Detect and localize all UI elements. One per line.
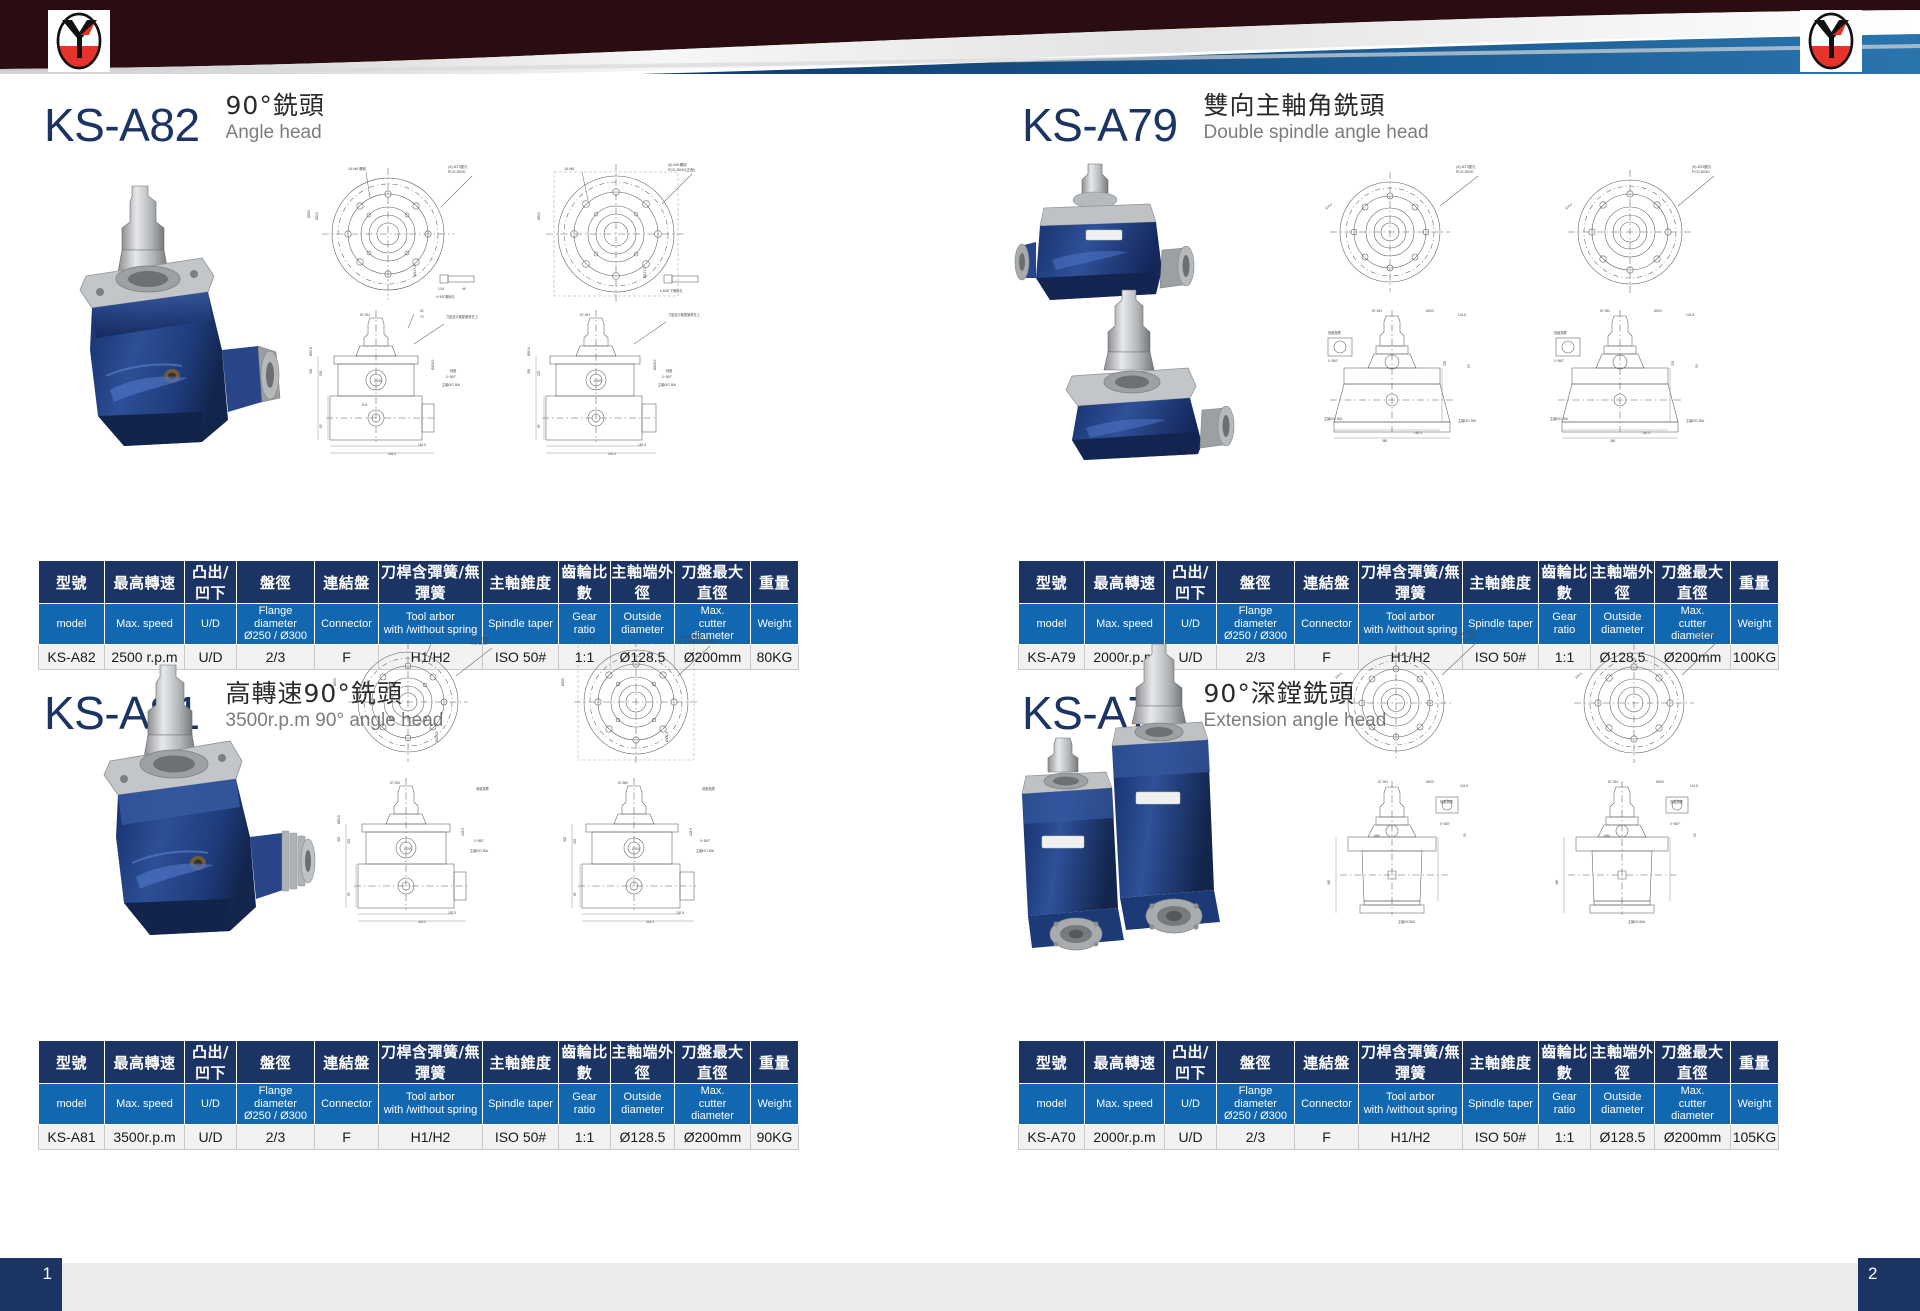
svg-text:480: 480	[1327, 879, 1331, 885]
svg-text:160.5: 160.5	[1642, 431, 1650, 435]
svg-text:刻度指標: 刻度指標	[476, 786, 490, 791]
svg-text:Ø50.8: Ø50.8	[337, 815, 341, 824]
svg-text:Ø300: Ø300	[632, 847, 640, 851]
th-en-0: model	[1019, 1084, 1085, 1125]
th-cn-2: 凸出/凹下	[185, 561, 237, 604]
svg-text:87-394: 87-394	[1600, 309, 1610, 313]
td-9: Ø200mm	[1655, 1124, 1731, 1149]
page-number-right: 2	[1858, 1258, 1920, 1311]
svg-text:0~360°: 0~360°	[1670, 822, 1681, 826]
product-title-cn: 90°銑頭	[226, 92, 325, 121]
spec-table-ks-a70: 型號 最高轉速 凸出/凹下 盤徑 連結盤 刀桿含彈簧/無彈簧 主軸錐度 齒輪比數…	[1018, 1040, 1779, 1150]
svg-text:0~360°: 0~360°	[700, 839, 711, 843]
company-logo-right	[1800, 10, 1862, 72]
svg-text:104.8: 104.8	[1324, 202, 1333, 210]
svg-text:Ø200: Ø200	[1426, 309, 1434, 313]
svg-text:主軸ISO 50#: 主軸ISO 50#	[1324, 416, 1342, 421]
svg-text:0~360°: 0~360°	[1328, 359, 1339, 363]
th-en-1: Max. speed	[1085, 1084, 1165, 1125]
svg-text:Ø300: Ø300	[537, 212, 541, 220]
svg-text:Ø250: Ø250	[333, 678, 337, 686]
header-banner	[0, 0, 1920, 74]
svg-text:16-M6: 16-M6	[564, 167, 574, 171]
svg-text:PCD Ø200: PCD Ø200	[1456, 170, 1473, 174]
svg-text:(6)-Ø19圓孔: (6)-Ø19圓孔	[1692, 164, 1712, 169]
th-en-7: Gearratio	[1539, 1084, 1591, 1125]
catalog-page: KS-A82 90°銑頭 Angle head	[0, 0, 1920, 1311]
svg-text:Ø50.8: Ø50.8	[527, 347, 531, 356]
svg-text:104.8: 104.8	[1458, 313, 1466, 317]
th-en-10: Weight	[1731, 1084, 1779, 1125]
svg-text:104.8: 104.8	[1690, 784, 1698, 788]
svg-text:主軸ISO 50#: 主軸ISO 50#	[470, 848, 488, 853]
th-en-2: U/D	[1165, 1084, 1217, 1125]
company-logo-left	[48, 10, 110, 72]
td-6: ISO 50#	[1463, 1124, 1539, 1149]
product-photo-ks-a82	[62, 180, 292, 460]
table-header-row-cn: 型號 最高轉速 凸出/凹下 盤徑 連結盤 刀桿含彈簧/無彈簧 主軸錐度 齒輪比數…	[1019, 561, 1779, 604]
svg-text:刀盤自行裝配鎖緊在上: 刀盤自行裝配鎖緊在上	[668, 312, 701, 317]
th-cn-10: 重量	[751, 1041, 799, 1084]
svg-text:刻度指標: 刻度指標	[1328, 330, 1342, 335]
th-en-9: Max.cutter diameter	[675, 1084, 751, 1125]
svg-text:Ø50: Ø50	[1604, 834, 1610, 838]
svg-text:Ø128.5: Ø128.5	[431, 359, 435, 370]
td-3: 2/3	[237, 1124, 315, 1149]
product-model: KS-A79	[1022, 102, 1178, 148]
svg-text:主軸ISO 50#: 主軸ISO 50#	[696, 848, 714, 853]
th-cn-4: 連結盤	[1295, 561, 1359, 604]
svg-text:10.8: 10.8	[438, 287, 444, 291]
svg-text:104.8: 104.8	[1574, 671, 1583, 679]
svg-text:53: 53	[1467, 364, 1471, 368]
th-cn-2: 凸出/凹下	[1165, 561, 1217, 604]
product-title-en: Angle head	[226, 122, 325, 145]
svg-text:53: 53	[1695, 364, 1699, 368]
engineering-drawing-ks-a79: (4)-Ø17圓孔PCD Ø200 (6)-Ø19圓孔PCD Ø240 104.…	[1300, 158, 1770, 458]
engineering-drawing-ks-a82: 16-M6 螺紋 (4)-Ø17圓孔PCD Ø200 16-M6 (6)-M8 …	[296, 158, 758, 458]
svg-text:360: 360	[1610, 439, 1616, 443]
th-en-2: U/D	[185, 1084, 237, 1125]
svg-text:(6)-M8 螺紋: (6)-M8 螺紋	[668, 162, 687, 167]
svg-text:104.8: 104.8	[1460, 784, 1468, 788]
svg-text:Ø250: Ø250	[374, 379, 382, 383]
th-cn-6: 主軸錐度	[1463, 1041, 1539, 1084]
svg-text:主軸ISO 50#: 主軸ISO 50#	[658, 382, 676, 387]
svg-text:主軸ISO 50#: 主軸ISO 50#	[1458, 418, 1476, 423]
td-1: 2000r.p.m	[1085, 1124, 1165, 1149]
th-en-4: Connector	[1295, 1084, 1359, 1125]
svg-text:(4)-Ø17圓孔: (4)-Ø17圓孔	[1456, 164, 1476, 169]
svg-text:0~360°: 0~360°	[446, 375, 457, 379]
th-en-3: Flange diameterØ250 / Ø300	[237, 604, 315, 645]
th-en-2: U/D	[185, 604, 237, 645]
td-7: 1:1	[1539, 1124, 1591, 1149]
th-en-1: Max. speed	[105, 1084, 185, 1125]
th-cn-9: 刀盤最大直徑	[675, 1041, 751, 1084]
svg-text:160.5: 160.5	[1414, 431, 1422, 435]
th-en-0: model	[39, 1084, 105, 1125]
svg-text:Ø300: Ø300	[594, 379, 602, 383]
svg-text:225: 225	[1671, 360, 1675, 366]
svg-text:0~360°: 0~360°	[474, 839, 485, 843]
product-photo-ks-a81	[82, 655, 332, 955]
th-cn-10: 重量	[1731, 1041, 1779, 1084]
th-cn-9: 刀盤最大直徑	[1655, 561, 1731, 604]
th-en-6: Spindle taper	[1463, 1084, 1539, 1125]
svg-text:205: 205	[319, 370, 323, 376]
td-10: 90KG	[751, 1124, 799, 1149]
td-5: H1/H2	[1359, 1124, 1463, 1149]
th-cn-0: 型號	[1019, 1041, 1085, 1084]
svg-text:Ø200: Ø200	[1426, 780, 1434, 784]
svg-text:(4)-Ø17圓孔: (4)-Ø17圓孔	[470, 636, 490, 641]
td-8: Ø128.5	[611, 1124, 675, 1149]
svg-text:45°: 45°	[426, 635, 432, 639]
svg-text:Ø128.5: Ø128.5	[653, 359, 657, 370]
th-cn-3: 盤徑	[1217, 1041, 1295, 1084]
svg-text:0~360°: 0~360°	[662, 375, 673, 379]
th-cn-0: 型號	[1019, 561, 1085, 604]
th-cn-5: 刀桿含彈簧/無彈簧	[1359, 561, 1463, 604]
engineering-drawing-ks-a81: 45° (4)-Ø17圓孔PCD Ø200 16-M6 螺絲 (6)-M8下螺絲…	[330, 630, 760, 930]
table-row: KS-A70 2000r.p.m U/D 2/3 F H1/H2 ISO 50#…	[1019, 1124, 1779, 1149]
svg-text:PCD Ø240: PCD Ø240	[1692, 170, 1709, 174]
table-header-row-cn: 型號 最高轉速 凸出/凹下 盤徑 連結盤 刀桿含彈簧/無彈簧 主軸錐度 齒輪比數…	[39, 1041, 799, 1084]
th-en-3: Flange diameterØ250 / Ø300	[237, 1084, 315, 1125]
th-cn-6: 主軸錐度	[1463, 561, 1539, 604]
th-en-3: Flange diameterØ250 / Ø300	[1217, 1084, 1295, 1125]
svg-text:Ø200: Ø200	[315, 212, 319, 220]
svg-text:104.8: 104.8	[1334, 671, 1343, 679]
svg-text:182.5: 182.5	[448, 911, 456, 915]
svg-text:300: 300	[337, 836, 341, 842]
product-model: KS-A82	[44, 102, 200, 148]
td-4: F	[1295, 1124, 1359, 1149]
product-title-en: Double spindle angle head	[1204, 122, 1429, 145]
svg-text:B-B: B-B	[362, 403, 367, 407]
svg-text:16-M6 螺絲: 16-M6 螺絲	[578, 636, 597, 641]
svg-text:(6)-M8下螺絲: (6)-M8下螺絲	[680, 634, 702, 639]
svg-text:刻度: 刻度	[666, 368, 673, 373]
svg-text:PCD Ø240: PCD Ø240	[1696, 637, 1713, 641]
svg-text:182.5: 182.5	[418, 443, 426, 447]
svg-text:70: 70	[420, 315, 424, 319]
th-cn-2: 凸出/凹下	[1165, 1041, 1217, 1084]
td-1: 3500r.p.m	[105, 1124, 185, 1149]
svg-text:Ø50.8: Ø50.8	[309, 347, 313, 356]
th-cn-1: 最高轉速	[105, 561, 185, 604]
svg-text:300: 300	[563, 836, 567, 842]
product-title-row: KS-A79 雙向主軸角銑頭 Double spindle angle head	[1022, 92, 1762, 148]
svg-text:Ø127.8: Ø127.8	[643, 267, 647, 278]
th-cn-3: 盤徑	[237, 1041, 315, 1084]
svg-text:Ø127.8: Ø127.8	[665, 731, 669, 742]
th-cn-4: 連結盤	[1295, 1041, 1359, 1084]
svg-text:PCD Ø200: PCD Ø200	[448, 170, 465, 174]
product-title-cn: 雙向主軸角銑頭	[1204, 92, 1429, 121]
svg-text:刻度: 刻度	[450, 368, 457, 373]
th-cn-1: 最高轉速	[1085, 561, 1165, 604]
company-logo-icon	[51, 12, 107, 70]
th-cn-4: 連結盤	[315, 1041, 379, 1084]
th-cn-3: 盤徑	[237, 561, 315, 604]
svg-text:52: 52	[420, 309, 424, 313]
th-en-8: Outsidediameter	[611, 1084, 675, 1125]
th-en-0: model	[39, 604, 105, 645]
svg-text:104.8: 104.8	[1564, 202, 1573, 210]
page-number-left-text: 1	[43, 1264, 52, 1284]
svg-text:225: 225	[537, 370, 541, 376]
th-en-4: Connector	[315, 1084, 379, 1125]
th-cn-7: 齒輪比數	[559, 1041, 611, 1084]
svg-text:刻度指標: 刻度指標	[1554, 330, 1568, 335]
svg-text:225: 225	[347, 838, 351, 844]
th-cn-6: 主軸錐度	[483, 561, 559, 604]
svg-text:87-394: 87-394	[1378, 780, 1388, 784]
td-0: KS-A81	[39, 1124, 105, 1149]
svg-text:182.5: 182.5	[676, 911, 684, 915]
svg-text:主軸ISO 50#: 主軸ISO 50#	[1550, 416, 1568, 421]
svg-text:PCD Ø240(正面): PCD Ø240(正面)	[668, 167, 695, 172]
table-header-row-en: model Max. speed U/D Flange diameterØ250…	[39, 1084, 799, 1125]
th-cn-6: 主軸錐度	[483, 1041, 559, 1084]
th-en-10: Weight	[751, 1084, 799, 1125]
page-number-left: 1	[0, 1258, 62, 1311]
svg-text:480: 480	[1555, 879, 1559, 885]
th-cn-5: 刀桿含彈簧/無彈簧	[379, 561, 483, 604]
svg-text:Ø250: Ø250	[307, 210, 311, 218]
th-cn-7: 齒輪比數	[559, 561, 611, 604]
th-cn-8: 主軸端外徑	[1591, 561, 1655, 604]
td-9: Ø200mm	[675, 1124, 751, 1149]
td-8: Ø128.5	[1591, 1124, 1655, 1149]
footer-strip	[0, 1263, 1920, 1311]
svg-text:85: 85	[573, 892, 577, 896]
th-cn-3: 盤徑	[1217, 561, 1295, 604]
svg-text:4~5/8"螺絲孔: 4~5/8"螺絲孔	[436, 294, 456, 299]
svg-text:Ø200: Ø200	[1656, 780, 1664, 784]
svg-text:Ø250: Ø250	[404, 847, 412, 851]
td-4: F	[315, 1124, 379, 1149]
th-cn-5: 刀桿含彈簧/無彈簧	[1359, 1041, 1463, 1084]
svg-text:345.5: 345.5	[418, 920, 426, 924]
svg-text:16-M6 螺紋: 16-M6 螺紋	[348, 166, 367, 171]
th-cn-8: 主軸端外徑	[611, 1041, 675, 1084]
svg-text:87-394: 87-394	[390, 781, 400, 785]
th-en-6: Spindle taper	[483, 1084, 559, 1125]
svg-text:PCD Ø240(正面)螺絲孔: PCD Ø240(正面)螺絲孔	[680, 639, 718, 644]
svg-text:Ø300: Ø300	[561, 678, 565, 686]
svg-text:主軸ISO50#: 主軸ISO50#	[1398, 919, 1415, 924]
svg-text:主軸ISO 50#: 主軸ISO 50#	[442, 382, 460, 387]
svg-text:85: 85	[537, 424, 541, 428]
svg-text:360: 360	[1382, 439, 1388, 443]
svg-text:(6)-Ø19 圓孔: (6)-Ø19 圓孔	[1696, 631, 1717, 636]
svg-text:87-394: 87-394	[360, 313, 370, 317]
footer-divider	[0, 1258, 1920, 1261]
svg-text:Ø50: Ø50	[1374, 834, 1380, 838]
td-2: U/D	[1165, 1124, 1217, 1149]
th-cn-1: 最高轉速	[105, 1041, 185, 1084]
svg-text:46: 46	[462, 287, 466, 291]
svg-text:128.8: 128.8	[689, 828, 693, 836]
svg-text:345.5: 345.5	[608, 452, 616, 456]
th-cn-8: 主軸端外徑	[1591, 1041, 1655, 1084]
th-cn-7: 齒輪比數	[1539, 561, 1591, 604]
th-cn-9: 刀盤最大直徑	[1655, 1041, 1731, 1084]
svg-text:(4)-Ø17圓孔: (4)-Ø17圓孔	[448, 164, 468, 169]
th-cn-1: 最高轉速	[1085, 1041, 1165, 1084]
th-cn-4: 連結盤	[315, 561, 379, 604]
svg-text:182.5: 182.5	[638, 443, 646, 447]
svg-text:85: 85	[319, 424, 323, 428]
svg-text:Ø127.8: Ø127.8	[413, 265, 417, 276]
product-block-ks-a79: KS-A79 雙向主軸角銑頭 Double spindle angle head	[1022, 92, 1762, 148]
svg-text:53: 53	[1463, 833, 1467, 837]
spec-table-ks-a81: 型號 最高轉速 凸出/凹下 盤徑 連結盤 刀桿含彈簧/無彈簧 主軸錐度 齒輪比數…	[38, 1040, 799, 1150]
td-7: 1:1	[559, 1124, 611, 1149]
product-title-row: KS-A82 90°銑頭 Angle head	[44, 92, 784, 148]
svg-text:0~360°: 0~360°	[1440, 822, 1451, 826]
th-en-7: Gearratio	[559, 1084, 611, 1125]
table-header-row-cn: 型號 最高轉速 凸出/凹下 盤徑 連結盤 刀桿含彈簧/無彈簧 主軸錐度 齒輪比數…	[1019, 1041, 1779, 1084]
svg-text:345.5: 345.5	[388, 452, 396, 456]
th-cn-0: 型號	[39, 561, 105, 604]
svg-text:刻度指標: 刻度指標	[702, 786, 716, 791]
svg-text:300: 300	[309, 368, 313, 374]
td-10: 105KG	[1731, 1124, 1779, 1149]
engineering-drawing-ks-a70: (4)-Ø17 圓孔PCD Ø200 (6)-Ø19 圓孔PCD Ø240 10…	[1310, 625, 1770, 935]
td-3: 2/3	[1217, 1124, 1295, 1149]
svg-text:87-869: 87-869	[618, 781, 628, 785]
svg-text:6-M18 下螺絲孔: 6-M18 下螺絲孔	[660, 288, 683, 293]
th-cn-7: 齒輪比數	[1539, 1041, 1591, 1084]
svg-text:225: 225	[573, 838, 577, 844]
product-photo-ks-a79	[1010, 152, 1280, 462]
th-en-9: Max.cutter diameter	[1655, 1084, 1731, 1125]
svg-text:PCD Ø200: PCD Ø200	[470, 642, 487, 646]
svg-text:(4)-Ø17 圓孔: (4)-Ø17 圓孔	[1456, 631, 1477, 636]
svg-text:0~360°: 0~360°	[1554, 359, 1565, 363]
th-cn-9: 刀盤最大直徑	[675, 561, 751, 604]
svg-text:Ø127.8: Ø127.8	[435, 731, 439, 742]
page-number-right-text: 2	[1868, 1264, 1877, 1284]
table-header-row-en: model Max. speed U/D Flange diameterØ250…	[1019, 1084, 1779, 1125]
svg-text:225: 225	[1443, 360, 1447, 366]
svg-text:Ø200: Ø200	[1654, 309, 1662, 313]
th-cn-8: 主軸端外徑	[611, 561, 675, 604]
svg-text:主軸ISO 50#: 主軸ISO 50#	[1686, 418, 1704, 423]
td-0: KS-A70	[1019, 1124, 1085, 1149]
svg-text:主軸ISO50#: 主軸ISO50#	[1628, 919, 1645, 924]
th-en-1: Max. speed	[105, 604, 185, 645]
th-en-5: Tool arborwith /without spring	[1359, 1084, 1463, 1125]
table-row: KS-A81 3500r.p.m U/D 2/3 F H1/H2 ISO 50#…	[39, 1124, 799, 1149]
svg-text:刀盤自行裝配鎖緊在上: 刀盤自行裝配鎖緊在上	[446, 314, 479, 319]
th-cn-10: 重量	[1731, 561, 1779, 604]
td-2: U/D	[185, 1124, 237, 1149]
product-block-ks-a82: KS-A82 90°銑頭 Angle head	[44, 92, 784, 148]
svg-text:87-394: 87-394	[1372, 309, 1382, 313]
svg-text:PCD Ø200: PCD Ø200	[1456, 637, 1473, 641]
th-en-5: Tool arborwith /without spring	[379, 1084, 483, 1125]
svg-text:345.5: 345.5	[646, 920, 654, 924]
table-header-row-cn: 型號 最高轉速 凸出/凹下 盤徑 連結盤 刀桿含彈簧/無彈簧 主軸錐度 齒輪比數…	[39, 561, 799, 604]
th-en-8: Outsidediameter	[1591, 1084, 1655, 1125]
svg-text:87-394: 87-394	[580, 313, 590, 317]
company-logo-icon	[1803, 12, 1859, 70]
td-5: H1/H2	[379, 1124, 483, 1149]
svg-text:128.8: 128.8	[461, 828, 465, 836]
th-cn-10: 重量	[751, 561, 799, 604]
th-cn-0: 型號	[39, 1041, 105, 1084]
product-photo-ks-a70	[1010, 630, 1280, 960]
svg-text:300: 300	[527, 368, 531, 374]
svg-text:104.8: 104.8	[1686, 313, 1694, 317]
th-cn-5: 刀桿含彈簧/無彈簧	[379, 1041, 483, 1084]
svg-text:53: 53	[1693, 833, 1697, 837]
svg-text:87-394: 87-394	[1608, 780, 1618, 784]
td-6: ISO 50#	[483, 1124, 559, 1149]
th-cn-2: 凸出/凹下	[185, 1041, 237, 1084]
svg-text:85: 85	[347, 892, 351, 896]
